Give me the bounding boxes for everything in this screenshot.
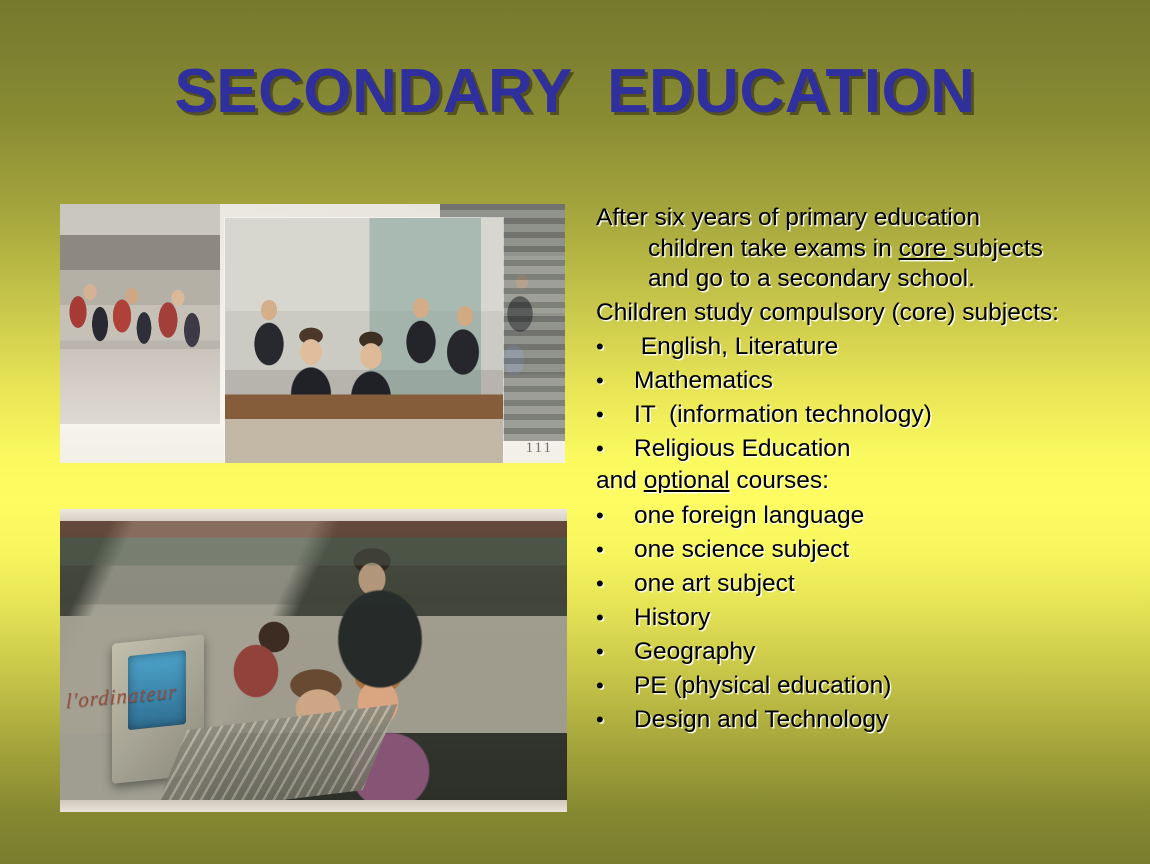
bullet-icon: •	[596, 567, 634, 601]
bullet-icon: •	[596, 330, 634, 364]
list-item: • History	[596, 601, 1136, 635]
list-item-label: Design and Technology	[634, 703, 888, 737]
top-photo: 111	[60, 204, 565, 463]
list-item-label: Geography	[634, 635, 755, 669]
list-item-label: one foreign language	[634, 499, 864, 533]
bullet-icon: •	[596, 432, 634, 466]
bullet-icon: •	[596, 669, 634, 703]
bullet-icon: •	[596, 533, 634, 567]
list-item: • English, Literature	[596, 330, 1136, 364]
computer-classroom-scene: l'ordinateur	[60, 521, 567, 800]
list-item: • IT (information technology)	[596, 398, 1136, 432]
list-item-label: one science subject	[634, 533, 849, 567]
core-keyword: core	[899, 235, 953, 262]
intro-line-3: and go to a secondary school.	[648, 265, 975, 292]
intro-paragraph: After six years of primary education chi…	[596, 203, 1136, 295]
bottom-photo: l'ordinateur	[60, 509, 567, 812]
list-item: • Design and Technology	[596, 703, 1136, 737]
list-item: • Religious Education	[596, 432, 1136, 466]
list-item: • one foreign language	[596, 499, 1136, 533]
scan-edge-top	[60, 509, 567, 521]
list-item-label: PE (physical education)	[634, 669, 891, 703]
list-item-label: IT (information technology)	[634, 398, 932, 432]
intro-line-2-prefix: children take exams in	[648, 235, 899, 262]
list-item: • one art subject	[596, 567, 1136, 601]
body-text-column: After six years of primary education chi…	[596, 203, 1136, 737]
bullet-icon: •	[596, 364, 634, 398]
list-item-label: Religious Education	[634, 432, 851, 466]
list-item: • PE (physical education)	[596, 669, 1136, 703]
list-item-label: English, Literature	[634, 330, 838, 364]
bullet-icon: •	[596, 703, 634, 737]
photo-panel-classroom-lesson	[225, 218, 503, 463]
bullet-icon: •	[596, 499, 634, 533]
bullet-icon: •	[596, 601, 634, 635]
optional-heading-suffix: courses:	[730, 467, 829, 494]
list-item-label: History	[634, 601, 710, 635]
page-title: SECONDARY EDUCATION	[0, 56, 1150, 127]
scan-edge-bottom	[60, 800, 567, 812]
optional-heading-prefix: and	[596, 467, 644, 494]
intro-line-1: After six years of primary education	[596, 204, 980, 231]
list-item: • Geography	[596, 635, 1136, 669]
compulsory-subjects-heading: Children study compulsory (core) subject…	[596, 298, 1136, 329]
intro-line-2-suffix: subjects	[953, 235, 1043, 262]
optional-courses-heading: and optional courses:	[596, 466, 1136, 497]
list-item: • Mathematics	[596, 364, 1136, 398]
photo-panel-schoolchildren-crowd	[60, 204, 220, 424]
list-item-label: one art subject	[634, 567, 795, 601]
bullet-icon: •	[596, 398, 634, 432]
list-item: • one science subject	[596, 533, 1136, 567]
bullet-icon: •	[596, 635, 634, 669]
textbook-page-number: 111	[526, 440, 553, 457]
list-item-label: Mathematics	[634, 364, 773, 398]
slide: SECONDARY EDUCATION 111 l'ordinateur Aft…	[0, 0, 1150, 864]
optional-keyword: optional	[644, 467, 730, 494]
